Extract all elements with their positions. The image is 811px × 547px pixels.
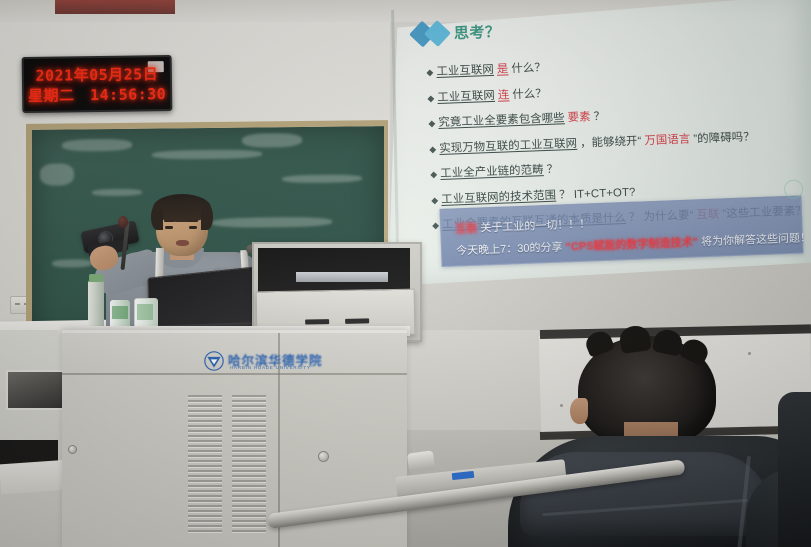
list-item: ◆ 工业全产业链的范畴？ — [430, 151, 806, 181]
presenter-mouth — [176, 240, 189, 246]
classroom-photo: 2021年05月25日 星期二 14:56:30 思考？ ◆ — [0, 0, 811, 547]
presenter-eyebrow — [164, 220, 174, 222]
diamond-icon — [424, 20, 451, 47]
bullet-red: 是 — [497, 60, 509, 76]
list-item: ◆ 工业互联网是什么？ — [426, 49, 802, 79]
bullet-underlined: 工业互联网 — [436, 61, 494, 79]
desk-bottle — [88, 280, 104, 328]
list-item: ◆ 工业互联网连什么？ — [427, 75, 803, 105]
slide-title-row: 思考？ — [413, 21, 501, 45]
callout-line-1: 互联 关于工业的一切！！！ — [455, 215, 591, 236]
bullet-tail: ？ IT+CT+OT? — [559, 183, 636, 202]
bullet-marker: ◆ — [428, 118, 435, 129]
bullet-tail: 什么？ — [511, 59, 546, 76]
bullet-marker: ◆ — [432, 220, 439, 231]
list-item: ◆ 究竟工业全要素包含哪些要素？ — [428, 100, 804, 130]
callout-suffix: 将为你解答这些问题！ — [701, 232, 811, 248]
bullet-red: 要素 — [567, 108, 591, 125]
bullet-marker: ◆ — [426, 67, 433, 78]
desk-lower-panel — [0, 460, 71, 495]
slide-title: 思考？ — [454, 21, 501, 44]
slide-callout-box: 互联 关于工业的一切！！！ 今天晚上7：30的分享 “CPS赋能的数字制造技术”… — [440, 195, 804, 267]
cabinet-handle[interactable] — [305, 319, 329, 324]
callout-red-2: “CPS赋能的数字制造技术” — [565, 236, 698, 253]
callout-prefix: 今天晚上7：30的分享 — [456, 241, 563, 257]
callout-red-1: 互联 — [455, 223, 477, 236]
bullet-marker: ◆ — [431, 195, 438, 206]
bullet-red: 万国语言 — [644, 130, 691, 148]
led-clock-time: 星期二 14:56:30 — [24, 83, 170, 106]
podium-vent — [232, 395, 266, 535]
slide-content: 思考？ ◆ 工业互联网是什么？ ◆ 工业互联网连什么？ ◆ 究竟工业全要素包含哪… — [410, 0, 811, 276]
bullet-tail: ，能够绕开“ — [580, 132, 642, 150]
presenter-eye — [165, 226, 173, 229]
presenter-eyebrow — [188, 220, 198, 222]
bullet-marker: ◆ — [430, 169, 437, 180]
callout-text-1: 关于工业的一切！！！ — [480, 218, 590, 234]
university-logo: 哈尔滨华德学院 HARBIN HUADE UNIVERSITY — [204, 350, 322, 374]
presenter-hair-side — [151, 204, 163, 230]
bullet-tail2: ”的障碍吗？ — [693, 128, 755, 146]
bullet-marker: ◆ — [429, 144, 436, 155]
bullet-underlined: 工业全产业链的范畴 — [440, 161, 544, 181]
bullet-underlined: 实现万物互联的工业互联网 — [439, 134, 577, 155]
bullet-underlined: 工业互联网 — [437, 86, 495, 104]
student-foreground — [528, 336, 811, 547]
led-wall-clock: 2021年05月25日 星期二 14:56:30 — [22, 55, 173, 113]
bullet-tail: ？ — [593, 108, 605, 124]
cabinet-handle[interactable] — [345, 318, 369, 323]
projection-screen: 思考？ ◆ 工业互联网是什么？ ◆ 工业互联网连什么？ ◆ 究竟工业全要素包含哪… — [388, 0, 811, 294]
presenter-hair-side — [201, 204, 213, 230]
bullet-underlined: 究竟工业全要素包含哪些 — [438, 109, 565, 130]
bullet-underlined: 工业互联网的技术范围 — [441, 186, 556, 206]
university-logo-subtext: HARBIN HUADE UNIVERSITY — [230, 365, 311, 370]
bullet-tail: 什么？ — [512, 84, 547, 101]
desk-left-panel — [0, 330, 70, 547]
podium-lock[interactable] — [68, 445, 77, 454]
podium-lock[interactable] — [318, 451, 329, 462]
student-partial-right — [778, 392, 811, 547]
bullet-red: 连 — [497, 86, 509, 102]
wall-banner — [55, 0, 175, 14]
desk-box-label — [112, 306, 128, 319]
list-item: ◆ 实现万物互联的工业互联网，能够绕开“万国语言”的障碍吗？ — [429, 126, 805, 156]
rack-device — [296, 272, 388, 282]
desk-box-label — [137, 304, 153, 320]
microphone-head — [118, 216, 128, 228]
presenter-eye — [189, 226, 197, 229]
bullet-tail: ？ — [546, 161, 558, 177]
bullet-marker: ◆ — [427, 93, 434, 104]
podium-vent — [188, 395, 222, 535]
logo-mark-icon — [204, 351, 224, 371]
pole-joint — [407, 450, 435, 471]
desk-bottle-cap — [89, 274, 103, 282]
student-ear — [570, 398, 588, 424]
